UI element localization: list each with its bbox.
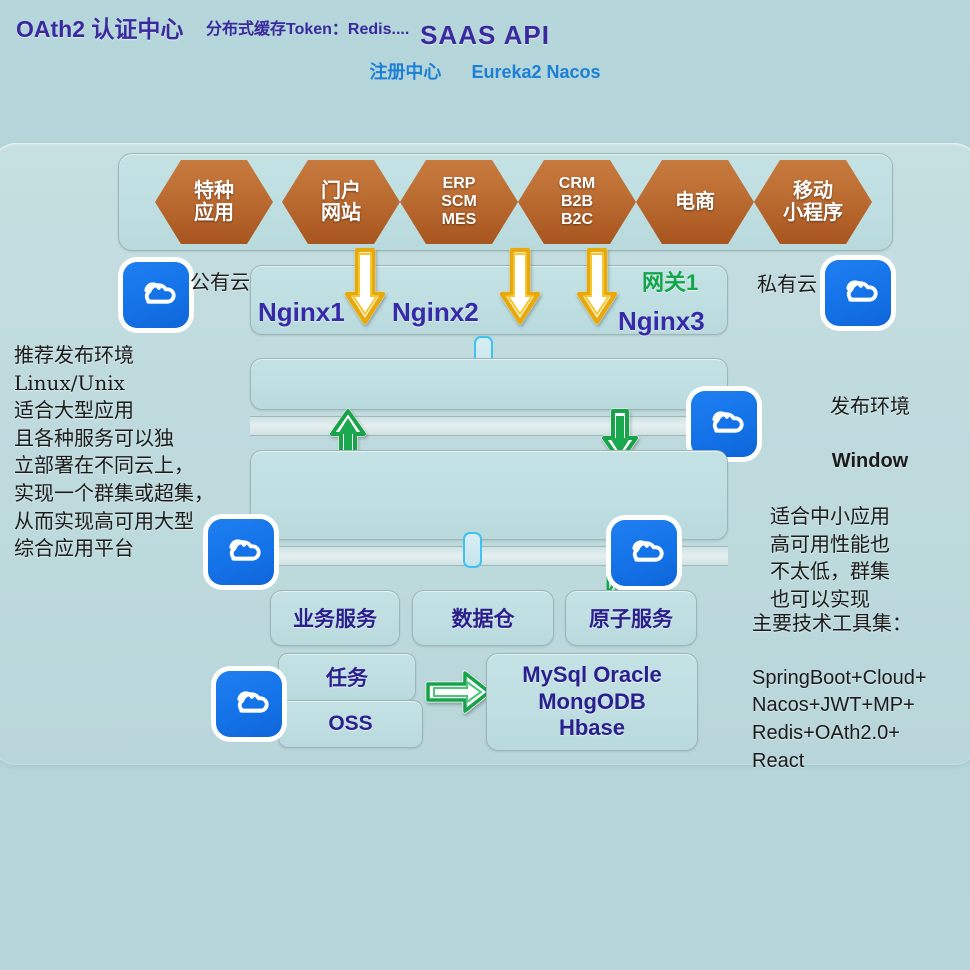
service-card-1[interactable]: 数据仓 (412, 590, 554, 646)
arrow-right-green (425, 668, 493, 716)
app-hexagon-label: 门户 网站 (321, 180, 361, 225)
app-hexagon-label: ERP SCM MES (441, 175, 477, 229)
cloud-icon-storage[interactable] (216, 671, 282, 737)
arrow-down-yellow-2 (499, 248, 541, 326)
note-tools-title: 主要技术工具集： (752, 610, 970, 638)
registry-items: Eureka2 Nacos (471, 62, 600, 82)
cloud-icon-auth[interactable] (691, 391, 757, 457)
cloud-icon-private[interactable] (825, 260, 891, 326)
diagram-canvas: 特种 应用 门户 网站 ERP SCM MES CRM B2B B2C 电商 移… (0, 0, 970, 970)
service-label: 原子服务 (589, 603, 673, 633)
cloud-icon-public[interactable] (123, 262, 189, 328)
private-cloud-label: 私有云 (757, 268, 817, 297)
app-hexagon-label: CRM B2B B2C (559, 175, 595, 229)
nginx2-label: Nginx2 (392, 297, 479, 328)
service-card-2[interactable]: 原子服务 (565, 590, 697, 646)
note-right-title: 发布环境 (770, 393, 970, 421)
note-right-env: Window (770, 448, 970, 476)
connector-saas-services (463, 532, 482, 568)
service-label: 业务服务 (293, 603, 377, 633)
app-hexagon-label: 电商 (675, 191, 715, 213)
registry-line: 注册中心 Eureka2 Nacos (0, 58, 970, 84)
database-card[interactable]: MySql Oracle MongODB Hbase (486, 653, 698, 751)
oss-card[interactable]: OSS (278, 700, 423, 748)
service-label: 数据仓 (452, 603, 515, 633)
database-line-1: MySql Oracle (522, 662, 661, 689)
saas-api-title: SAAS API (0, 20, 970, 51)
auth-center-card (250, 358, 728, 410)
cloud-icon-gateway2[interactable] (611, 520, 677, 586)
public-cloud-label: 公有云 (190, 266, 250, 295)
database-line-3: Hbase (559, 715, 625, 742)
nginx1-label: Nginx1 (258, 297, 345, 328)
app-hexagon-label: 移动 小程序 (783, 180, 843, 225)
arrow-down-yellow-1 (344, 248, 386, 326)
note-tools-body: SpringBoot+Cloud+ Nacos+JWT+MP+ Redis+OA… (752, 665, 970, 775)
database-line-2: MongODB (538, 689, 646, 716)
note-left: 推荐发布环境 Linux/Unix 适合大型应用 且各种服务可以独 立部署在不同… (14, 342, 244, 563)
rail-auth-saas (250, 416, 728, 436)
nginx3-label: Nginx3 (618, 306, 705, 337)
app-hexagon-label: 特种 应用 (194, 180, 234, 225)
arrow-down-yellow-3 (576, 248, 618, 326)
gateway1-label: 网关1 (642, 265, 698, 297)
registry-label: 注册中心 (369, 62, 441, 82)
note-tools: 主要技术工具集： SpringBoot+Cloud+ Nacos+JWT+MP+… (752, 582, 970, 803)
task-card[interactable]: 任务 (278, 653, 416, 701)
oss-label: OSS (328, 712, 372, 736)
service-card-0[interactable]: 业务服务 (270, 590, 400, 646)
task-label: 任务 (326, 662, 368, 692)
